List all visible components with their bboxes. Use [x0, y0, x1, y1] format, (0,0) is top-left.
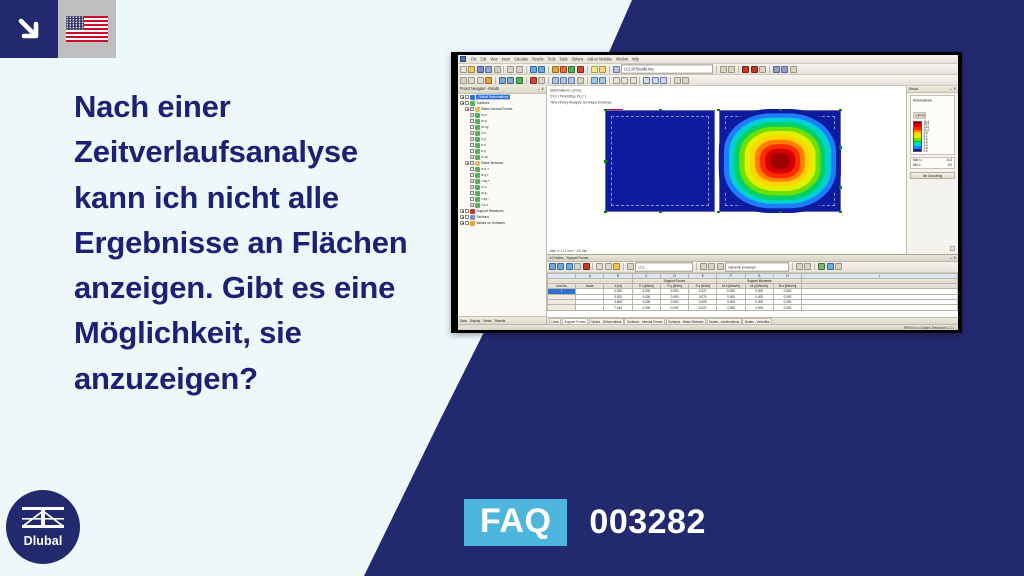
- dlubal-logo: Dlubal: [6, 490, 80, 564]
- results-grid[interactable]: ABCDEFGHISupport ForcesSupport MomentsLi…: [547, 273, 958, 318]
- snap-icon[interactable]: [781, 66, 788, 73]
- surface-tool-icon[interactable]: [507, 77, 514, 84]
- table-grid-icon[interactable]: [627, 263, 634, 270]
- faq-number: 003282: [589, 503, 705, 542]
- tree-checkbox[interactable]: [470, 185, 474, 189]
- tree-expand-icon[interactable]: [460, 215, 464, 219]
- help-toolbar-icon[interactable]: [682, 77, 689, 84]
- navigator-node-label: Surfaces: [476, 101, 489, 106]
- node-marker[interactable]: [717, 109, 720, 112]
- table-first-icon[interactable]: [700, 263, 707, 270]
- result-icon: [475, 197, 480, 202]
- tree-expand-icon[interactable]: [460, 101, 464, 105]
- project-navigator-panel[interactable]: Project Navigator - Results ⌄ ✕ Global D…: [458, 86, 547, 324]
- result-icon: [475, 191, 480, 196]
- menu-item-insert[interactable]: Insert: [502, 57, 510, 62]
- legend-value-list: 16.314.713.011.49.88.16.54.93.31.60.0: [924, 121, 953, 153]
- node-marker[interactable]: [839, 211, 842, 214]
- menu-item-add-on-modules[interactable]: Add-on Modules: [587, 57, 612, 62]
- line-tool-icon[interactable]: [468, 77, 475, 84]
- navigator-node-label: n-xy: [481, 155, 487, 160]
- menu-item-window[interactable]: Window: [616, 57, 628, 62]
- section-view-icon[interactable]: [591, 77, 598, 84]
- tree-expand-icon[interactable]: [460, 95, 464, 99]
- tree-checkbox[interactable]: [470, 179, 474, 183]
- node-marker[interactable]: [717, 211, 720, 214]
- menu-item-view[interactable]: View: [490, 57, 497, 62]
- tree-checkbox[interactable]: [470, 107, 474, 111]
- next-case-icon[interactable]: [728, 66, 735, 73]
- prev-case-icon[interactable]: [720, 66, 727, 73]
- tree-checkbox[interactable]: [470, 203, 474, 207]
- copy-icon[interactable]: [516, 66, 523, 73]
- view-iso-icon[interactable]: [568, 77, 575, 84]
- result-icon: [475, 167, 480, 172]
- table-nav-right-icon[interactable]: [804, 263, 811, 270]
- dlubal-truss-icon: [21, 506, 65, 532]
- table-highlight-icon[interactable]: [613, 263, 620, 270]
- tree-expand-icon[interactable]: [460, 221, 464, 225]
- table-toolbar[interactable]: LC1 Dynamic Envelope: [547, 262, 958, 273]
- node-marker[interactable]: [779, 211, 782, 214]
- result-icon: [475, 125, 480, 130]
- grid-cell[interactable]: 0.000: [717, 305, 745, 310]
- support-tool-icon[interactable]: [516, 77, 523, 84]
- tree-checkbox[interactable]: [465, 209, 469, 213]
- table-load-case-combo[interactable]: LC1: [635, 262, 693, 271]
- member-tool-icon[interactable]: [499, 77, 506, 84]
- deformation-icon: [470, 95, 475, 100]
- tree-checkbox[interactable]: [470, 119, 474, 123]
- navigator-node[interactable]: Values on Surfaces: [459, 220, 546, 226]
- cut-icon[interactable]: [507, 66, 514, 73]
- selection-icon[interactable]: [613, 66, 620, 73]
- printout-icon[interactable]: [660, 77, 667, 84]
- node-marker[interactable]: [604, 109, 607, 112]
- navigator-node-label: τ-xy,+: [481, 179, 489, 184]
- table-help-icon[interactable]: [835, 263, 842, 270]
- rotate-view-icon[interactable]: [577, 77, 584, 84]
- table-toggle-icon[interactable]: [643, 77, 650, 84]
- menu-item-options[interactable]: Options: [572, 57, 584, 62]
- section-icon: [470, 215, 475, 220]
- navigator-node-label: σ-y,+: [481, 173, 488, 178]
- tree-checkbox[interactable]: [470, 173, 474, 177]
- legend-resize-handle[interactable]: [950, 246, 955, 251]
- legend-close-icon[interactable]: ⌄ ✕: [950, 86, 956, 91]
- tree-checkbox[interactable]: [465, 215, 469, 219]
- results-tab[interactable]: Surfaces - Basic Stresses: [666, 318, 706, 324]
- redo-icon[interactable]: [538, 66, 545, 73]
- folder-icon: [475, 161, 480, 166]
- results-tab[interactable]: Nodes - Velocities: [742, 318, 772, 324]
- support-icon: [470, 209, 475, 214]
- clipping-icon[interactable]: [599, 77, 606, 84]
- navigator-node-label: v-x: [481, 131, 485, 136]
- navigator-node-label: m-x: [481, 113, 487, 118]
- navigator-node-label: Support Reactions: [476, 209, 503, 214]
- table-prev-icon[interactable]: [708, 263, 715, 270]
- set-smoothing-button[interactable]: Set Smoothing: [910, 172, 955, 179]
- tree-checkbox[interactable]: [470, 155, 474, 159]
- tree-expand-icon[interactable]: [460, 209, 464, 213]
- ortho-icon[interactable]: [790, 66, 797, 73]
- navigator-node-label: m-y: [481, 119, 487, 124]
- settings-icon[interactable]: [674, 77, 681, 84]
- navigator-node-label: Global Deformations: [476, 95, 510, 100]
- result-icon: [475, 143, 480, 148]
- grid-cell[interactable]: 0.000: [660, 305, 688, 310]
- node-marker[interactable]: [604, 211, 607, 214]
- tree-expand-icon[interactable]: [465, 161, 469, 165]
- node-marker[interactable]: [604, 160, 607, 163]
- viewport-status: Max u: 17.1 mm / -0.0 mm: [550, 248, 587, 253]
- legend-colorbar: [913, 121, 922, 153]
- surface-icon: [470, 101, 475, 106]
- navigator-node-label: Sections: [476, 215, 489, 220]
- save-icon[interactable]: [477, 66, 484, 73]
- navigator-node-label: Basic Stresses: [481, 161, 503, 166]
- tree-checkbox[interactable]: [470, 197, 474, 201]
- legend-panel-title: Result: [909, 86, 918, 91]
- node-tool-icon[interactable]: [485, 77, 492, 84]
- navigator-node-label: Basic Internal Forces: [481, 107, 512, 112]
- result-icon: [475, 155, 480, 160]
- results-values-icon[interactable]: [751, 66, 758, 73]
- table-close-icon[interactable]: ⌄ ✕: [950, 255, 956, 260]
- preview-icon[interactable]: [494, 66, 501, 73]
- node-marker[interactable]: [839, 186, 842, 189]
- table-next-icon[interactable]: [717, 263, 724, 270]
- navigator-node-label: n-y: [481, 149, 486, 154]
- legend-min-value: 0.0: [948, 163, 952, 168]
- navigator-tree[interactable]: Global DeformationsSurfacesBasic Interna…: [458, 93, 546, 316]
- logo-text: Dlubal: [24, 534, 63, 548]
- results-tab[interactable]: Nodes - Deformations: [589, 318, 624, 324]
- measure-icon[interactable]: [538, 77, 545, 84]
- faq-badge: FAQ: [464, 499, 567, 546]
- tree-checkbox[interactable]: [465, 221, 469, 225]
- navigator-bottom-tabs[interactable]: Data Display Views Results: [458, 316, 546, 324]
- print-icon[interactable]: [485, 66, 492, 73]
- result-icon: [475, 185, 480, 190]
- app-menubar[interactable]: File Edit View Insert Calculate Results …: [458, 55, 958, 64]
- navigator-node-label: σ-x,+: [481, 167, 489, 172]
- us-flag-icon: [58, 0, 116, 58]
- arc-tool-icon[interactable]: [477, 77, 484, 84]
- table-export-icon[interactable]: [583, 263, 590, 270]
- tree-checkbox[interactable]: [465, 95, 469, 99]
- node-marker[interactable]: [779, 109, 782, 112]
- result-icon: [475, 173, 480, 178]
- result-icon: [475, 149, 480, 154]
- table-analysis-combo[interactable]: Dynamic Envelope: [725, 262, 789, 271]
- navigator-node-label: n-x: [481, 143, 486, 148]
- table-columns-icon[interactable]: [605, 263, 612, 270]
- results-tab-strip[interactable]: LinesSupport ForcesNodes - DeformationsS…: [547, 317, 958, 324]
- navigator-node-label: τ-xy,-: [481, 197, 488, 202]
- tree-checkbox[interactable]: [470, 161, 474, 165]
- navigator-tab-display[interactable]: Display: [470, 318, 480, 323]
- grid-cell[interactable]: [548, 305, 576, 310]
- navigator-titlebar: Project Navigator - Results ⌄ ✕: [458, 85, 546, 94]
- table-find-icon[interactable]: [566, 263, 573, 270]
- render-icon[interactable]: [599, 66, 606, 73]
- page-title: Nach einer Zeitverlaufsanalyse kann ich …: [74, 84, 414, 401]
- results-on-icon[interactable]: [742, 66, 749, 73]
- faq-slide: Nach einer Zeitverlaufsanalyse kann ich …: [0, 0, 1024, 576]
- navigator-tab-views[interactable]: Views: [483, 318, 491, 323]
- menu-item-edit[interactable]: Edit: [480, 57, 486, 62]
- navigator-node-label: m-xy: [481, 125, 488, 130]
- grid-icon[interactable]: [773, 66, 780, 73]
- results-tab[interactable]: Support Forces: [562, 318, 588, 324]
- table-row[interactable]: 7.0440.0000.0000.0270.0000.0000.000: [548, 305, 958, 310]
- result-icon: [475, 131, 480, 136]
- node-marker[interactable]: [839, 109, 842, 112]
- view-front-icon[interactable]: [552, 77, 559, 84]
- faq-footer: FAQ 003282: [464, 499, 706, 546]
- model-viewport[interactable]: Deformations u [mm] DT-2 | TimeDiffus, D…: [547, 86, 958, 254]
- visibility-icon[interactable]: [621, 77, 628, 84]
- result-icon: [475, 203, 480, 208]
- grid-cell[interactable]: 7.044: [604, 305, 632, 310]
- surface-left[interactable]: [605, 110, 715, 212]
- top-left-badges: [0, 0, 116, 58]
- support-line-marker: [605, 109, 623, 110]
- new-icon[interactable]: [460, 66, 467, 73]
- filter-icon[interactable]: [630, 77, 637, 84]
- navigator-close-icon[interactable]: ⌄ ✕: [538, 86, 544, 91]
- grid-cell[interactable]: 0.027: [689, 305, 717, 310]
- result-icon: [475, 113, 480, 118]
- tree-checkbox[interactable]: [470, 191, 474, 195]
- navigator-node-label: σ-x,-: [481, 185, 488, 190]
- menu-item-help[interactable]: Help: [632, 57, 639, 62]
- menu-item-file[interactable]: File: [471, 57, 476, 62]
- result-legend-panel[interactable]: Result ⌄ ✕ Deformations u [mm] 16.314.71…: [906, 86, 958, 254]
- table-nav-left-icon[interactable]: [796, 263, 803, 270]
- menu-item-results[interactable]: Results: [532, 57, 543, 62]
- grid-cell-spacer: [802, 305, 958, 310]
- navigator-tab-results[interactable]: Results: [495, 318, 506, 323]
- menu-item-table[interactable]: Table: [559, 57, 567, 62]
- zoom-in-icon[interactable]: [560, 66, 567, 73]
- model-canvas[interactable]: Deformations u [mm] DT-2 | TimeDiffus, D…: [547, 86, 906, 254]
- tree-checkbox[interactable]: [470, 113, 474, 117]
- legend-min-label: Min u :: [913, 163, 922, 168]
- menu-item-tools[interactable]: Tools: [548, 57, 556, 62]
- zoom-icon[interactable]: [552, 66, 559, 73]
- table-excel-icon[interactable]: [818, 263, 825, 270]
- pointer-icon[interactable]: [460, 77, 467, 84]
- app-icon: [460, 56, 466, 62]
- tree-checkbox[interactable]: [465, 101, 469, 105]
- grid-cell[interactable]: [576, 305, 604, 310]
- undo-icon[interactable]: [530, 66, 537, 73]
- table-filter-icon[interactable]: [549, 263, 556, 270]
- app-toolbar-primary[interactable]: LC1 All Results Key: [458, 64, 958, 75]
- grid-cell[interactable]: 0.000: [745, 305, 773, 310]
- legend-heading: Deformations: [913, 98, 952, 103]
- results-tab[interactable]: Nodes - Accelerations: [707, 318, 742, 324]
- results-table-panel[interactable]: 4.0 Nodes - Support Forces ⌄ ✕: [547, 254, 958, 324]
- layers-icon[interactable]: [613, 77, 620, 84]
- navigator-node-label: Values on Surfaces: [476, 221, 504, 226]
- tree-checkbox[interactable]: [470, 149, 474, 153]
- legend-unit: u [mm]: [913, 112, 926, 119]
- tree-checkbox[interactable]: [470, 137, 474, 141]
- result-icon: [475, 119, 480, 124]
- viewport-caption: Deformations u [mm] DT-2 | TimeDiffus, D…: [550, 88, 612, 106]
- deformation-display-icon[interactable]: [759, 66, 766, 73]
- load-tool-icon[interactable]: [530, 77, 537, 84]
- arrow-down-right-icon: [0, 0, 58, 58]
- navigator-tab-data[interactable]: Data: [460, 318, 467, 323]
- table-settings-icon[interactable]: [596, 263, 603, 270]
- set-smoothing-label: Set Smoothing: [923, 173, 943, 178]
- node-marker[interactable]: [659, 211, 662, 214]
- node-marker[interactable]: [839, 146, 842, 149]
- tree-checkbox[interactable]: [470, 131, 474, 135]
- legend-scale-box: Deformations u [mm] 16.314.713.011.49.88…: [910, 95, 955, 156]
- result-icon: [475, 137, 480, 142]
- view-top-icon[interactable]: [560, 77, 567, 84]
- tree-checkbox[interactable]: [470, 143, 474, 147]
- legend-minmax: Max u : 16.3 Min u : 0.0: [910, 157, 955, 169]
- table-chart-icon[interactable]: [827, 263, 834, 270]
- app-status-bar: RFEM 5.xx | Modell 'Zeitverlauf' | LC1: [458, 324, 958, 330]
- table-print-icon[interactable]: [574, 263, 581, 270]
- legend-swatch: [914, 149, 921, 152]
- tree-checkbox[interactable]: [470, 125, 474, 129]
- grid-cell[interactable]: 0.000: [632, 305, 660, 310]
- navigator-toggle-icon[interactable]: [652, 77, 659, 84]
- load-case-combo[interactable]: LC1 All Results Key: [621, 65, 713, 74]
- open-icon[interactable]: [468, 66, 475, 73]
- menu-item-calculate[interactable]: Calculate: [514, 57, 528, 62]
- rfem-application-screenshot: File Edit View Insert Calculate Results …: [451, 52, 962, 333]
- navigator-node-label: σ-y,-: [481, 191, 488, 196]
- zoom-out-icon[interactable]: [568, 66, 575, 73]
- tree-expand-icon[interactable]: [465, 107, 469, 111]
- legend-value: 0.0: [924, 149, 953, 152]
- caption-line-3: Time History Analysis, Envelope Envelope: [550, 100, 612, 106]
- navigator-title: Project Navigator - Results: [460, 86, 499, 91]
- results-tab[interactable]: Surfaces - Internal Forces: [624, 318, 665, 324]
- calculate-icon[interactable]: [591, 66, 598, 73]
- table-panel-title: 4.0 Nodes - Support Forces: [549, 255, 588, 260]
- fit-view-icon[interactable]: [577, 66, 584, 73]
- node-marker[interactable]: [659, 109, 662, 112]
- contour-band: [770, 153, 789, 169]
- result-icon: [475, 179, 480, 184]
- table-sort-icon[interactable]: [557, 263, 564, 270]
- values-icon: [470, 221, 475, 226]
- tree-checkbox[interactable]: [470, 167, 474, 171]
- legend-titlebar: Result ⌄ ✕: [907, 86, 958, 93]
- status-text: RFEM 5.xx | Modell 'Zeitverlauf' | LC1: [904, 325, 954, 330]
- grid-cell[interactable]: 0.000: [773, 305, 801, 310]
- folder-icon: [475, 107, 480, 112]
- surface-right-contour[interactable]: [719, 110, 841, 212]
- navigator-node-label: v-y: [481, 137, 485, 142]
- navigator-node-label: τ-x,z: [481, 203, 488, 208]
